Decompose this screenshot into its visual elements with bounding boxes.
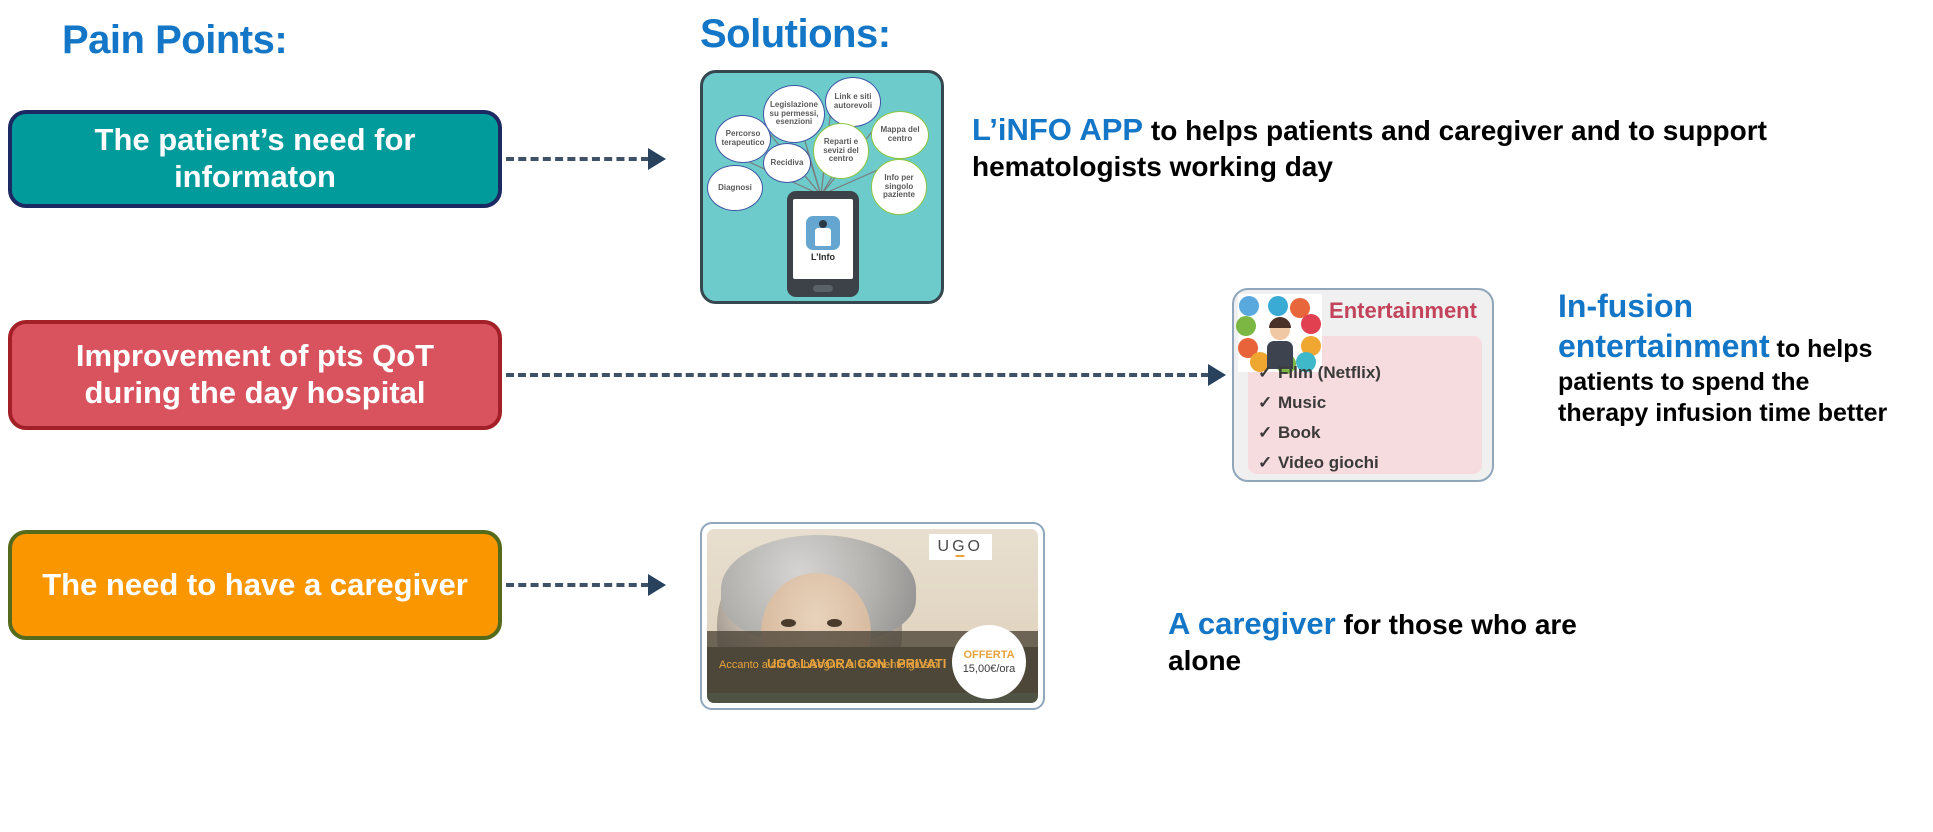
entertainment-list: ✓ Film (Netflix) ✓ Music ✓ Book ✓ Video … [1258, 364, 1381, 482]
arrow-line [506, 583, 649, 587]
solution-title-info-app: L’iNFO APP [972, 112, 1143, 147]
screen-icon [1239, 296, 1259, 316]
arrow-caregiver-to-a-caregiver [506, 573, 666, 597]
solution-title-in-fusion: In-fusion entertainment [1558, 288, 1770, 364]
entertainment-image-reflection: ✓Film (Netflix) ✓Music ✓Book ✓Video gioc… [1232, 482, 1494, 578]
arrow-qot-to-in-fusion [506, 363, 1226, 387]
ugo-caregiver-image[interactable]: UGO Accanto a chi ha bisogno, al momento… [700, 522, 1045, 710]
ugo-caption-primary: UGO LAVORA CON I PRIVATI [767, 656, 946, 671]
pain-point-box-qot[interactable]: Improvement of pts QoT during the day ho… [8, 320, 502, 430]
list-item: ✓ Film (Netflix) [1258, 364, 1381, 381]
mindmap-bubble-link-siti[interactable]: Link e siti autorevoli [825, 77, 881, 127]
list-item-label: Video giochi [1278, 454, 1379, 471]
phone-screen: L’Info [793, 199, 853, 279]
mindmap-bubble-info-paziente[interactable]: Info per singolo paziente [871, 159, 927, 215]
mindmap-bubble-percorso[interactable]: Percorso terapeutico [715, 115, 771, 163]
list-item: ✓ Music [1258, 394, 1381, 411]
entertainment-icon-cluster-icon [1238, 294, 1322, 372]
list-item-label: Book [1278, 424, 1321, 441]
list-item: ✓ Book [1258, 424, 1381, 441]
mindmap-bubble-legislazione[interactable]: Legislazione su permessi, esenzioni [763, 85, 825, 143]
check-icon: ✓ [1258, 424, 1278, 441]
check-icon: ✓ [1258, 394, 1278, 411]
check-icon: ✓ [1258, 454, 1278, 471]
mindmap-bubble-mappa[interactable]: Mappa del centro [871, 111, 929, 159]
offer-label: OFFERTA [963, 649, 1014, 661]
solution-description-in-fusion: In-fusion entertainment to helps patient… [1558, 286, 1898, 430]
arrow-line [506, 373, 1209, 377]
entertainment-image[interactable]: Entertainment ✓ Film (Netflix) ✓ Music ✓… [1232, 288, 1494, 482]
phone-home-button-icon [813, 285, 833, 292]
entertainment-title: Entertainment [1320, 298, 1486, 324]
pain-points-heading: Pain Points: [62, 18, 287, 63]
info-app-image[interactable]: Legislazione su permessi, esenzioni Link… [700, 70, 944, 304]
mindmap-bubble-recidiva[interactable]: Recidiva [763, 143, 811, 183]
ugo-photo: UGO Accanto a chi ha bisogno, al momento… [707, 529, 1038, 703]
list-item-label: Film (Netflix) [1278, 364, 1381, 381]
arrow-head-icon [1208, 364, 1226, 386]
offer-badge: OFFERTA 15,00€/ora [952, 625, 1026, 699]
arrow-head-icon [648, 574, 666, 596]
monitor-icon [1268, 296, 1288, 316]
ugo-logo-text: UGO [938, 538, 983, 555]
solution-description-info-app: L’iNFO APP to helps patients and caregiv… [972, 110, 1842, 184]
arrow-head-icon [648, 148, 666, 170]
smartphone-icon: L’Info [787, 191, 859, 297]
ugo-caregiver-image-reflection: UGO LAVORA CON I PRIVATI OFFERTA 15,00€/… [700, 712, 1049, 816]
list-item: ✓ Video giochi [1258, 454, 1381, 471]
arrow-line [506, 157, 649, 161]
offer-price: 15,00€/ora [963, 663, 1016, 675]
solution-title-a-caregiver: A caregiver [1168, 606, 1336, 641]
ugo-logo: UGO [929, 534, 992, 560]
photo-camera-icon [1301, 314, 1321, 334]
pain-point-box-information[interactable]: The patient’s need for informaton [8, 110, 502, 208]
solutions-heading: Solutions: [700, 12, 891, 57]
linfo-app-icon [806, 216, 840, 250]
mindmap-bubble-reparti[interactable]: Reparti e sevizi del centro [813, 123, 869, 179]
linfo-app-label: L’Info [811, 252, 835, 262]
image-icon [1236, 316, 1256, 336]
solution-description-a-caregiver: A caregiver for those who are alone [1168, 604, 1638, 678]
mindmap-bubble-diagnosi[interactable]: Diagnosi [707, 165, 763, 211]
pain-point-box-caregiver[interactable]: The need to have a caregiver [8, 530, 502, 640]
list-item-label: Music [1278, 394, 1326, 411]
arrow-information-to-info-app [506, 147, 666, 171]
check-icon: ✓ [1258, 364, 1278, 381]
